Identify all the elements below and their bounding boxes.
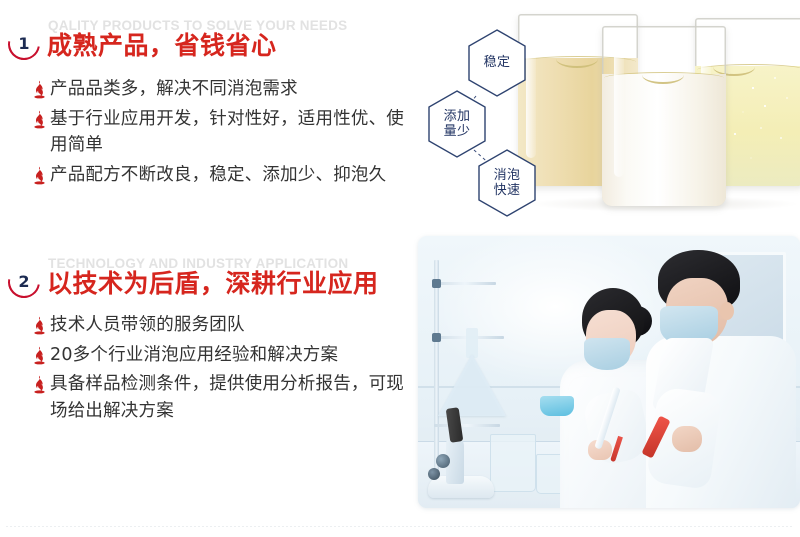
section-1-header: 1 QALITY PRODUCTS TO SOLVE YOUR NEEDS 成熟…: [0, 14, 418, 70]
section-2-bullet-list: 技术人员带领的服务团队 20多个行业消泡应用经验和解决方案: [32, 312, 418, 427]
list-item: 具备样品检测条件，提供使用分析报告，可现场给出解决方案: [32, 371, 418, 424]
beaker-spout: [556, 50, 598, 68]
list-item-text: 20多个行业消泡应用经验和解决方案: [50, 342, 338, 369]
face-mask: [584, 338, 630, 370]
flame-icon: [32, 166, 47, 185]
section-2-title: 以技术为后盾，深耕行业应用: [47, 270, 379, 299]
lab-stand-arm: [434, 282, 496, 285]
hexagon-label-line1: 消泡: [494, 168, 521, 183]
beaker-spout: [642, 66, 684, 84]
blue-sample-dish: [540, 396, 574, 416]
promo-page: 1 QALITY PRODUCTS TO SOLVE YOUR NEEDS 成熟…: [0, 0, 800, 537]
feature-section-2: 2 TECHNOLOGY AND INDUSTRY APPLICATION 以技…: [0, 252, 418, 308]
ear: [720, 302, 734, 320]
list-item-text: 产品品类多，解决不同消泡需求: [50, 76, 298, 103]
erlenmeyer-flask: [438, 354, 506, 416]
scientist-male: [646, 250, 796, 508]
lab-clamp: [432, 279, 441, 288]
list-item-text: 基于行业应用开发，针对性好，适用性优、使用简单: [50, 106, 418, 159]
list-item-text: 产品配方不断改良，稳定、添加少、抑泡久: [50, 162, 386, 189]
beaker-glass-highlight: [614, 51, 624, 177]
hexagon-label-line2: 量少: [444, 124, 471, 139]
hand: [672, 426, 702, 452]
microscope-knob: [436, 454, 450, 468]
feature-section-1: 1 QALITY PRODUCTS TO SOLVE YOUR NEEDS 成熟…: [0, 14, 418, 70]
hexagon-badge-stable: 稳定: [466, 28, 528, 98]
hexagon-label: 稳定: [484, 55, 511, 70]
section-1-title: 成熟产品，省钱省心: [47, 32, 277, 61]
flame-icon: [32, 110, 47, 129]
list-item-text: 具备样品检测条件，提供使用分析报告，可现场给出解决方案: [50, 371, 418, 424]
lab-photo: [418, 236, 800, 508]
section-2-number-badge: 2: [8, 266, 40, 298]
section-1-number: 1: [8, 28, 40, 60]
hexagon-badge-fast-defoam: 消泡 快速: [476, 148, 538, 218]
flame-icon: [32, 375, 47, 394]
bottom-divider: [6, 526, 794, 527]
small-beaker: [490, 434, 536, 492]
lab-clamp: [432, 333, 441, 342]
beaker-milky-white: [602, 26, 726, 206]
flame-icon: [32, 346, 47, 365]
section-1-number-badge: 1: [8, 28, 40, 60]
list-item: 产品配方不断改良，稳定、添加少、抑泡久: [32, 162, 418, 189]
hexagon-label-line2: 快速: [494, 183, 521, 198]
section-2-number: 2: [8, 266, 40, 298]
section-2-header: 2 TECHNOLOGY AND INDUSTRY APPLICATION 以技…: [0, 252, 418, 308]
hexagon-label-line1: 添加: [444, 109, 471, 124]
text-column: 1 QALITY PRODUCTS TO SOLVE YOUR NEEDS 成熟…: [0, 0, 418, 537]
microscope-eyepiece: [428, 468, 440, 480]
list-item: 技术人员带领的服务团队: [32, 312, 418, 339]
beaker-illustration: 稳定 添加 量少 消泡 快速: [418, 0, 800, 232]
list-item: 20多个行业消泡应用经验和解决方案: [32, 342, 418, 369]
flame-icon: [32, 80, 47, 99]
list-item-text: 技术人员带领的服务团队: [50, 312, 245, 339]
lab-stand-arm: [434, 424, 500, 427]
flame-icon: [32, 316, 47, 335]
list-item: 产品品类多，解决不同消泡需求: [32, 76, 418, 103]
list-item: 基于行业应用开发，针对性好，适用性优、使用简单: [32, 106, 418, 159]
section-1-bullet-list: 产品品类多，解决不同消泡需求 基于行业应用开发，针对性好，适用性优、使用简单: [32, 76, 418, 191]
